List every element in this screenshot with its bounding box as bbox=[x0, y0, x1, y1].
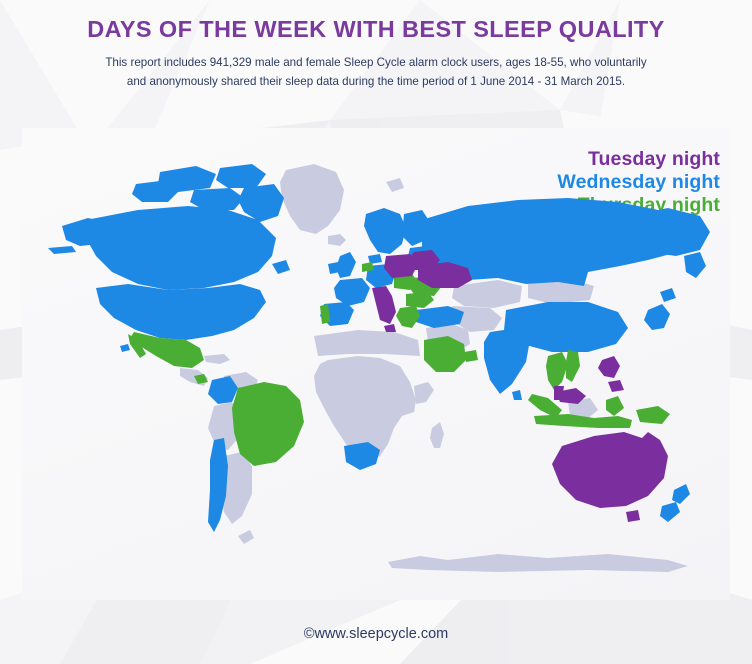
header: DAYS OF THE WEEK WITH BEST SLEEP QUALITY… bbox=[0, 0, 752, 91]
region-tasmania bbox=[626, 510, 640, 522]
region-brazil bbox=[232, 382, 304, 466]
region-france bbox=[334, 278, 370, 306]
region-kamchatka bbox=[684, 252, 706, 278]
region-uae bbox=[464, 350, 478, 362]
region-sulawesi bbox=[606, 396, 624, 416]
region-new-zealand-south bbox=[660, 502, 680, 522]
region-vietnam bbox=[566, 350, 580, 382]
region-philippines bbox=[598, 356, 620, 378]
region-canadian-arctic-2 bbox=[216, 164, 266, 188]
region-aleutians bbox=[48, 246, 76, 254]
region-canada bbox=[86, 206, 276, 290]
infographic-page: DAYS OF THE WEEK WITH BEST SLEEP QUALITY… bbox=[0, 0, 752, 664]
region-united-states bbox=[96, 284, 266, 340]
region-philippines-south bbox=[608, 380, 624, 392]
region-bulgaria bbox=[406, 292, 434, 308]
region-hawaii bbox=[120, 344, 130, 352]
region-africa-horn bbox=[414, 382, 434, 404]
region-sicily bbox=[384, 324, 396, 332]
report-description: This report includes 941,329 male and fe… bbox=[0, 53, 752, 91]
report-description-line-2: and anonymously shared their sleep data … bbox=[0, 72, 752, 91]
region-italy bbox=[372, 286, 396, 324]
region-india bbox=[484, 328, 530, 394]
region-svalbard bbox=[386, 178, 404, 192]
report-description-line-1: This report includes 941,329 male and fe… bbox=[0, 53, 752, 72]
region-australia bbox=[552, 432, 668, 508]
region-sri-lanka bbox=[512, 390, 522, 400]
region-greece bbox=[396, 306, 420, 328]
footer-credit: ©www.sleepcycle.com bbox=[0, 626, 752, 642]
region-antarctic-peninsula bbox=[238, 530, 254, 544]
region-madagascar bbox=[430, 422, 444, 448]
region-newfoundland bbox=[272, 260, 290, 274]
page-title: DAYS OF THE WEEK WITH BEST SLEEP QUALITY bbox=[0, 14, 752, 44]
region-greenland bbox=[280, 164, 344, 234]
region-ireland bbox=[328, 262, 340, 274]
region-united-kingdom bbox=[336, 252, 356, 278]
region-new-zealand bbox=[672, 484, 690, 504]
region-thailand bbox=[546, 352, 568, 390]
region-antarctica bbox=[388, 554, 688, 572]
region-canadian-arctic-4 bbox=[190, 188, 244, 210]
region-north-africa bbox=[314, 330, 420, 356]
region-scandinavia bbox=[364, 208, 406, 254]
region-japan bbox=[644, 304, 670, 330]
region-japan-north bbox=[660, 288, 676, 302]
region-papua-new-guinea bbox=[636, 406, 670, 424]
region-caribbean bbox=[204, 354, 230, 364]
region-chile bbox=[208, 438, 228, 532]
region-iceland bbox=[328, 234, 346, 246]
world-choropleth-map bbox=[28, 160, 728, 580]
